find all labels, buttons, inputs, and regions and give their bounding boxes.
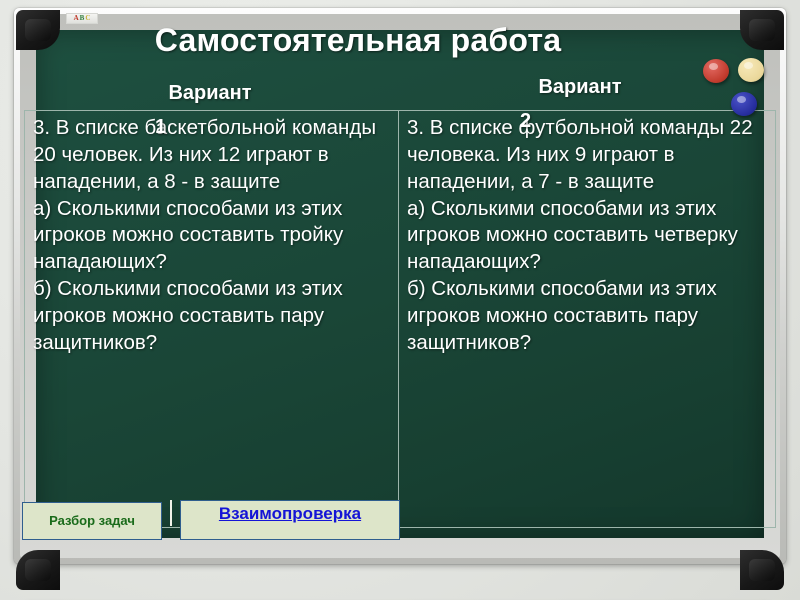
magnet-cream-icon <box>738 58 764 82</box>
corner-protector-top-right <box>740 10 784 50</box>
button-divider <box>170 500 172 526</box>
task-cell-variant-2: 3. В списке футбольной команды 22 челове… <box>399 111 775 527</box>
vzaimoproverka-label: Взаимопроверка <box>185 503 395 526</box>
variant-heading-right: Вариант <box>430 76 730 99</box>
vzaimoproverka-button[interactable]: Взаимопроверка <box>180 500 400 540</box>
presentation-slide: ABC Самостоятельная работа Вариант Вариа… <box>0 0 800 600</box>
tasks-table: 3. В списке баскетбольной команды 20 чел… <box>24 110 776 528</box>
variant-number-right: 2 <box>520 110 531 133</box>
magnet-red-icon <box>703 59 729 83</box>
corner-protector-bottom-left <box>16 550 60 590</box>
task-cell-variant-1: 3. В списке баскетбольной команды 20 чел… <box>25 111 399 527</box>
razbor-zadach-button[interactable]: Разбор задач <box>22 502 162 540</box>
page-title: Самостоятельная работа <box>0 22 800 59</box>
task-text-variant-2: 3. В списке футбольной команды 22 челове… <box>407 115 769 357</box>
variant-heading-left: Вариант <box>60 82 360 105</box>
variant-number-left: 1 <box>155 116 166 139</box>
razbor-zadach-label: Разбор задач <box>49 512 135 530</box>
corner-protector-bottom-right <box>740 550 784 590</box>
task-text-variant-1: 3. В списке баскетбольной команды 20 чел… <box>33 115 392 357</box>
magnet-blue-icon <box>731 92 757 116</box>
